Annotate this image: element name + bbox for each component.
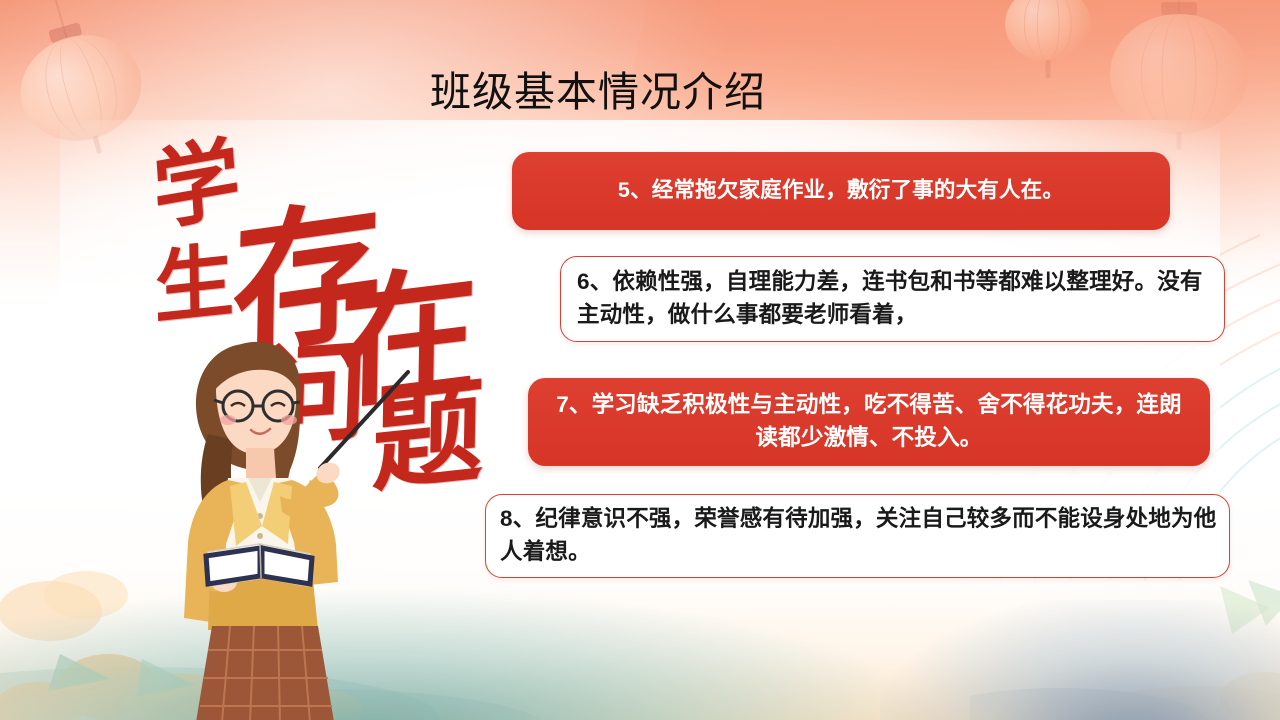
content-box-5-text: 5、经常拖欠家庭作业，敷衍了事的大有人在。	[538, 176, 1144, 205]
background-bottom-blue-wash	[880, 600, 1280, 720]
content-box-8[interactable]: 8、纪律意识不强，荣誉感有待加强，关注自己较多而不能设身处地为他人着想。	[485, 494, 1230, 578]
content-box-7[interactable]: 7、学习缺乏积极性与主动性，吃不得苦、舍不得花功夫，连朗读都少激情、不投入。	[528, 378, 1210, 466]
background-bottom-teal-wash	[0, 590, 940, 720]
slide-canvas: 班级基本情况介绍 学 生 存 在 问 题	[0, 0, 1280, 720]
content-box-6[interactable]: 6、依赖性强，自理能力差，连书包和书等都难以整理好。没有主动性，做什么事都要老师…	[560, 256, 1225, 342]
lantern-body	[1110, 14, 1248, 134]
content-box-6-text: 6、依赖性强，自理能力差，连书包和书等都难以整理好。没有主动性，做什么事都要老师…	[577, 266, 1212, 331]
lantern-body	[1005, 0, 1091, 62]
lantern-tassel	[1046, 60, 1051, 78]
page-title: 班级基本情况介绍	[430, 68, 890, 116]
content-box-5[interactable]: 5、经常拖欠家庭作业，敷衍了事的大有人在。	[512, 152, 1170, 230]
pointer-stick-icon	[320, 372, 408, 468]
teacher-illustration	[150, 330, 420, 720]
lantern-icon	[1110, 14, 1248, 134]
content-box-7-text: 7、学习缺乏积极性与主动性，吃不得苦、舍不得花功夫，连朗读都少激情、不投入。	[548, 389, 1190, 454]
lantern-icon	[1005, 0, 1091, 62]
content-box-8-text: 8、纪律意识不强，荣誉感有待加强，关注自己较多而不能设身处地为他人着想。	[500, 503, 1217, 568]
